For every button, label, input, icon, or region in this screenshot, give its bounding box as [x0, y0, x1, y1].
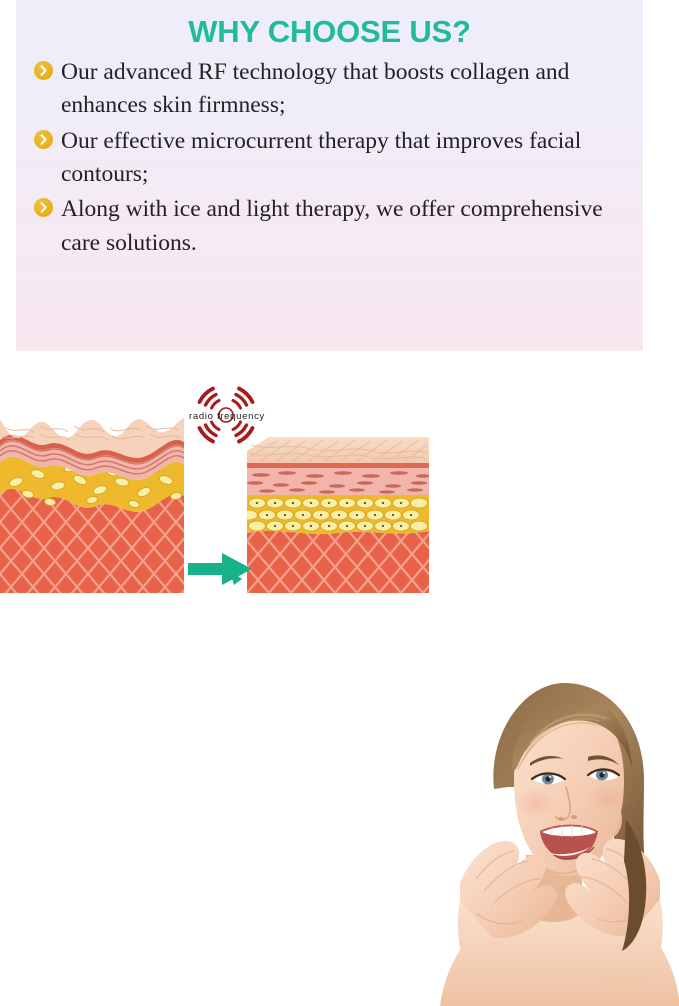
chevron-right-circle-icon: [34, 61, 53, 80]
chevron-right-circle-icon: [34, 198, 53, 217]
radio-frequency-label: radio frequency: [162, 411, 292, 422]
promo-panel: WHY CHOOSE US? Our advanced RF technolog…: [16, 0, 643, 351]
list-item: Our effective microcurrent therapy that …: [34, 125, 629, 192]
chevron-right-circle-icon: [34, 130, 53, 149]
benefit-list: Our advanced RF technology that boosts c…: [34, 56, 629, 262]
illustration-area: radio frequency: [0, 351, 679, 655]
list-item-label: Our effective microcurrent therapy that …: [61, 128, 581, 187]
list-item: Along with ice and light therapy, we off…: [34, 193, 629, 260]
smiling-woman-photo: [430, 669, 679, 1006]
skin-cross-section-after: [247, 437, 429, 593]
skin-cross-section-before: [0, 418, 184, 593]
list-item-label: Along with ice and light therapy, we off…: [61, 196, 603, 255]
arrow-right-double-icon: [186, 549, 256, 589]
page-title: WHY CHOOSE US?: [16, 14, 643, 50]
list-item-label: Our advanced RF technology that boosts c…: [61, 59, 569, 118]
list-item: Our advanced RF technology that boosts c…: [34, 56, 629, 123]
